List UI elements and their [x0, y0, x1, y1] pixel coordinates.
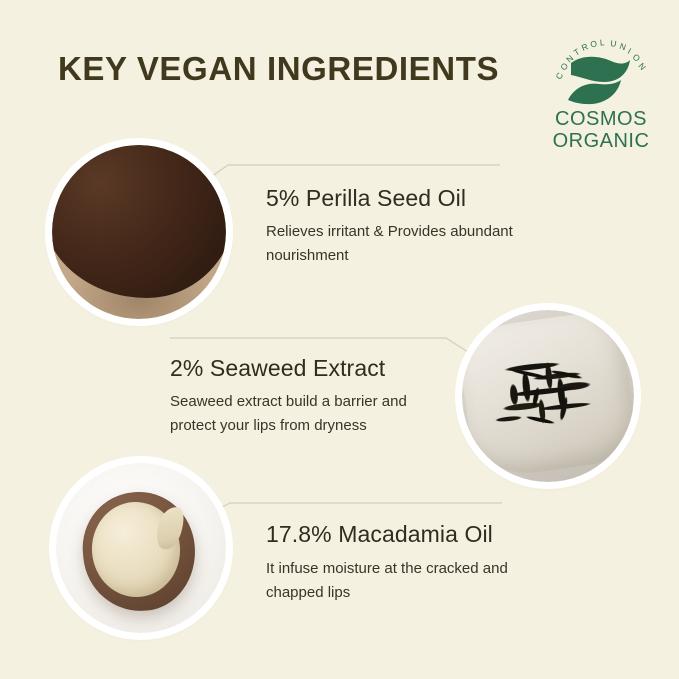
- svg-text:I: I: [626, 46, 633, 56]
- ingredient-description-perilla: Relieves irritant & Provides abundant no…: [266, 220, 544, 268]
- ingredients-infographic: KEY VEGAN INGREDIENTS C O N T R O L U N …: [0, 0, 679, 679]
- certification-name: COSMOS ORGANIC: [538, 108, 664, 152]
- ingredient-heading-seaweed: 2% Seaweed Extract: [170, 355, 385, 382]
- perilla-seeds-photo: [52, 145, 226, 319]
- ingredient-description-macadamia: It infuse moisture at the cracked and ch…: [266, 557, 541, 605]
- macadamia-nut-image: [56, 463, 226, 633]
- connector-line-perilla: [211, 165, 500, 177]
- svg-text:T: T: [572, 46, 582, 57]
- ingredient-description-seaweed: Seaweed extract build a barrier and prot…: [170, 390, 435, 438]
- svg-text:O: O: [589, 38, 598, 49]
- svg-text:O: O: [631, 52, 643, 64]
- svg-text:U: U: [610, 38, 617, 49]
- macadamia-nut-photo: [56, 463, 226, 633]
- control-union-logo-icon: C O N T R O L U N I O N: [538, 30, 664, 110]
- perilla-seed-pile: [52, 145, 226, 298]
- svg-text:L: L: [600, 37, 606, 47]
- certification-name-line2: ORGANIC: [538, 130, 664, 152]
- connector-line-macadamia: [213, 503, 502, 512]
- cosmos-organic-badge: C O N T R O L U N I O N COSMOS ORGANIC: [538, 30, 664, 154]
- certification-name-line1: COSMOS: [538, 108, 664, 130]
- svg-text:N: N: [618, 41, 627, 52]
- svg-text:C: C: [553, 71, 565, 81]
- page-title: KEY VEGAN INGREDIENTS: [58, 50, 499, 88]
- connector-line-seaweed: [170, 338, 468, 352]
- ingredient-heading-perilla: 5% Perilla Seed Oil: [266, 185, 466, 212]
- svg-text:N: N: [636, 61, 648, 72]
- seaweed-extract-image: [462, 310, 634, 482]
- ingredient-heading-macadamia: 17.8% Macadamia Oil: [266, 521, 493, 548]
- perilla-seed-specks: [52, 145, 226, 298]
- seaweed-extract-photo: [462, 310, 634, 482]
- perilla-seeds-image: [52, 145, 226, 319]
- svg-text:R: R: [580, 41, 589, 53]
